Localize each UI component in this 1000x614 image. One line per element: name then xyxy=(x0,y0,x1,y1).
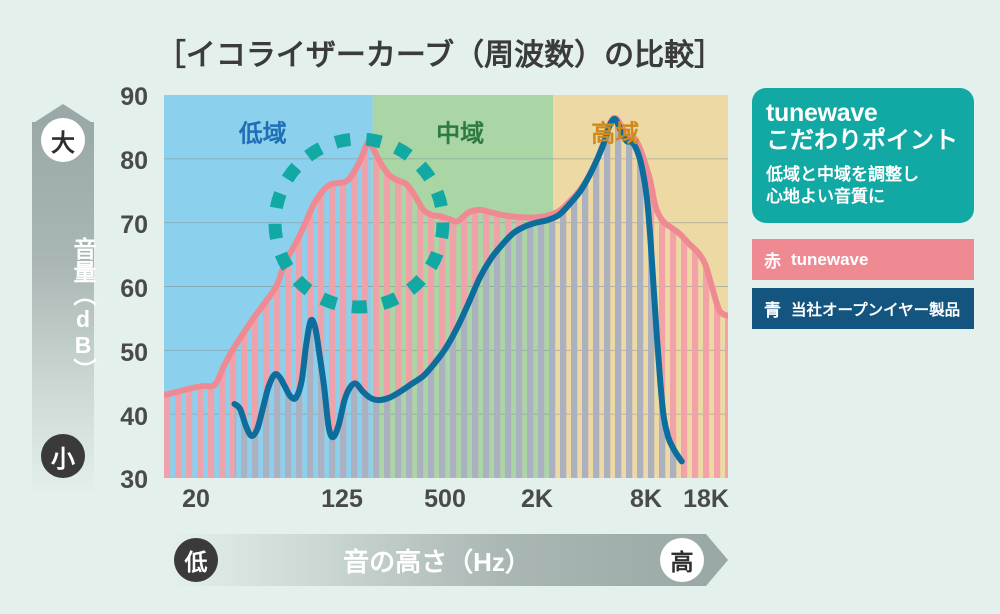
band-label-3: 高域 xyxy=(591,120,639,148)
chart-canvas: 低域中域高域 xyxy=(164,95,728,478)
x-tick-18k: 18K xyxy=(683,485,729,514)
legend-item-openear: 青 当社オープンイヤー製品 xyxy=(752,288,974,329)
callout-subtitle: こだわりポイント xyxy=(766,128,960,154)
y-tick-70: 70 xyxy=(100,211,148,240)
band-label-1: 低域 xyxy=(238,121,287,148)
band-label-2: 中域 xyxy=(436,121,484,148)
callout-description: 低域と中域を調整し心地よい音質に xyxy=(766,164,960,208)
brand-name: tunewave xyxy=(766,100,960,127)
volume-axis-arrow: 大 音量（dB） 小 xyxy=(32,104,94,496)
legend-key-blue: 青 xyxy=(764,296,781,321)
y-tick-40: 40 xyxy=(100,403,148,432)
side-panel: tunewave こだわりポイント 低域と中域を調整し心地よい音質に 赤 tun… xyxy=(752,88,974,337)
x-axis-label: 音の高さ（Hz） xyxy=(168,534,706,586)
y-tick-30: 30 xyxy=(100,466,148,495)
x-tick-20: 20 xyxy=(182,485,210,514)
legend-label-openear: 当社オープンイヤー製品 xyxy=(791,298,960,320)
infographic-root: ［イコライザーカーブ（周波数）の比較］ 大 音量（dB） 小 90 80 70 … xyxy=(0,0,1000,614)
y-tick-60: 60 xyxy=(100,275,148,304)
y-tick-90: 90 xyxy=(100,83,148,112)
x-tick-2k: 2K xyxy=(521,485,553,514)
frequency-high-cap: 高 xyxy=(660,538,704,582)
volume-low-cap: 小 xyxy=(41,434,85,478)
frequency-axis-arrow: 音の高さ（Hz） 低 高 xyxy=(168,534,728,586)
frequency-low-cap: 低 xyxy=(174,538,218,582)
arrow-right-icon xyxy=(706,534,728,586)
chart-legend: 赤 tunewave 青 当社オープンイヤー製品 xyxy=(752,239,974,329)
y-tick-80: 80 xyxy=(100,147,148,176)
y-tick-50: 50 xyxy=(100,339,148,368)
legend-key-red: 赤 xyxy=(764,247,781,272)
y-axis-label: 音量（dB） xyxy=(32,224,94,394)
legend-item-tunewave: 赤 tunewave xyxy=(752,239,974,280)
volume-high-cap: 大 xyxy=(41,118,85,162)
x-tick-125: 125 xyxy=(321,485,363,514)
x-tick-8k: 8K xyxy=(630,485,662,514)
tunewave-callout: tunewave こだわりポイント 低域と中域を調整し心地よい音質に xyxy=(752,88,974,223)
legend-label-tunewave: tunewave xyxy=(791,250,868,270)
x-tick-500: 500 xyxy=(424,485,466,514)
equalizer-chart: 低域中域高域 xyxy=(164,95,728,478)
page-title: ［イコライザーカーブ（周波数）の比較］ xyxy=(120,30,760,74)
